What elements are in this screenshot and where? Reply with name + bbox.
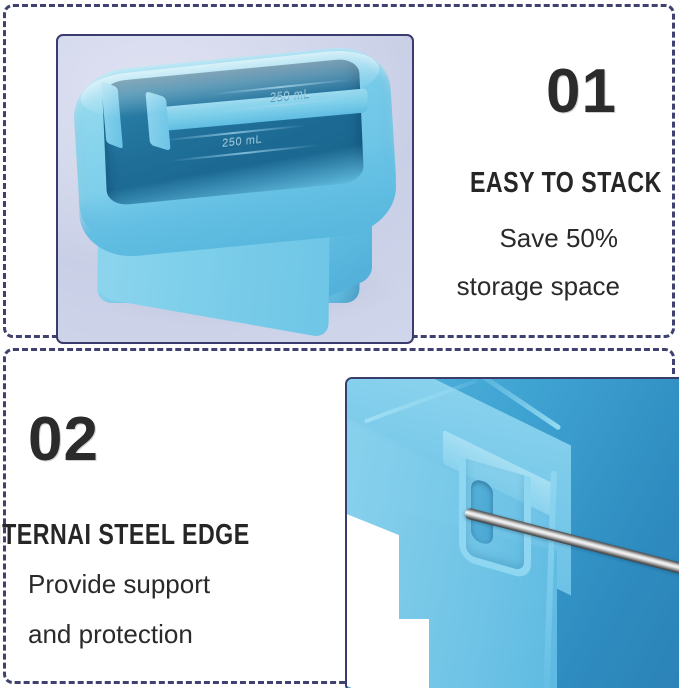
panel-headline-01: EASY TO STACK xyxy=(470,169,662,198)
panel-subline-01-line-1: Save 50% xyxy=(499,225,618,251)
product-photo-stacked: 250 mL 250 mL xyxy=(56,34,414,344)
steel-edge-illustration xyxy=(347,379,679,688)
product-feature-infographic: 250 mL 250 mL 01 EASY TO STACK Save 50% … xyxy=(0,0,679,688)
panel-headline-02: INTERNAI STEEL EDGE xyxy=(0,521,250,550)
panel-number-01: 01 xyxy=(546,61,617,123)
panel-subline-02-line-2: and protection xyxy=(28,621,193,647)
background-cutout-2 xyxy=(371,619,429,688)
feature-panel-02: 02 INTERNAI STEEL EDGE Provide support a… xyxy=(3,348,675,684)
product-illustration: 250 mL 250 mL xyxy=(58,36,412,342)
product-photo-steel-edge xyxy=(345,377,679,688)
container-rim-underlip xyxy=(71,53,398,261)
panel-number-02: 02 xyxy=(28,409,99,471)
panel-subline-01-line-2: storage space xyxy=(457,273,620,299)
panel-subline-02-line-1: Provide support xyxy=(28,571,210,597)
feature-panel-01: 250 mL 250 mL 01 EASY TO STACK Save 50% … xyxy=(3,4,675,338)
